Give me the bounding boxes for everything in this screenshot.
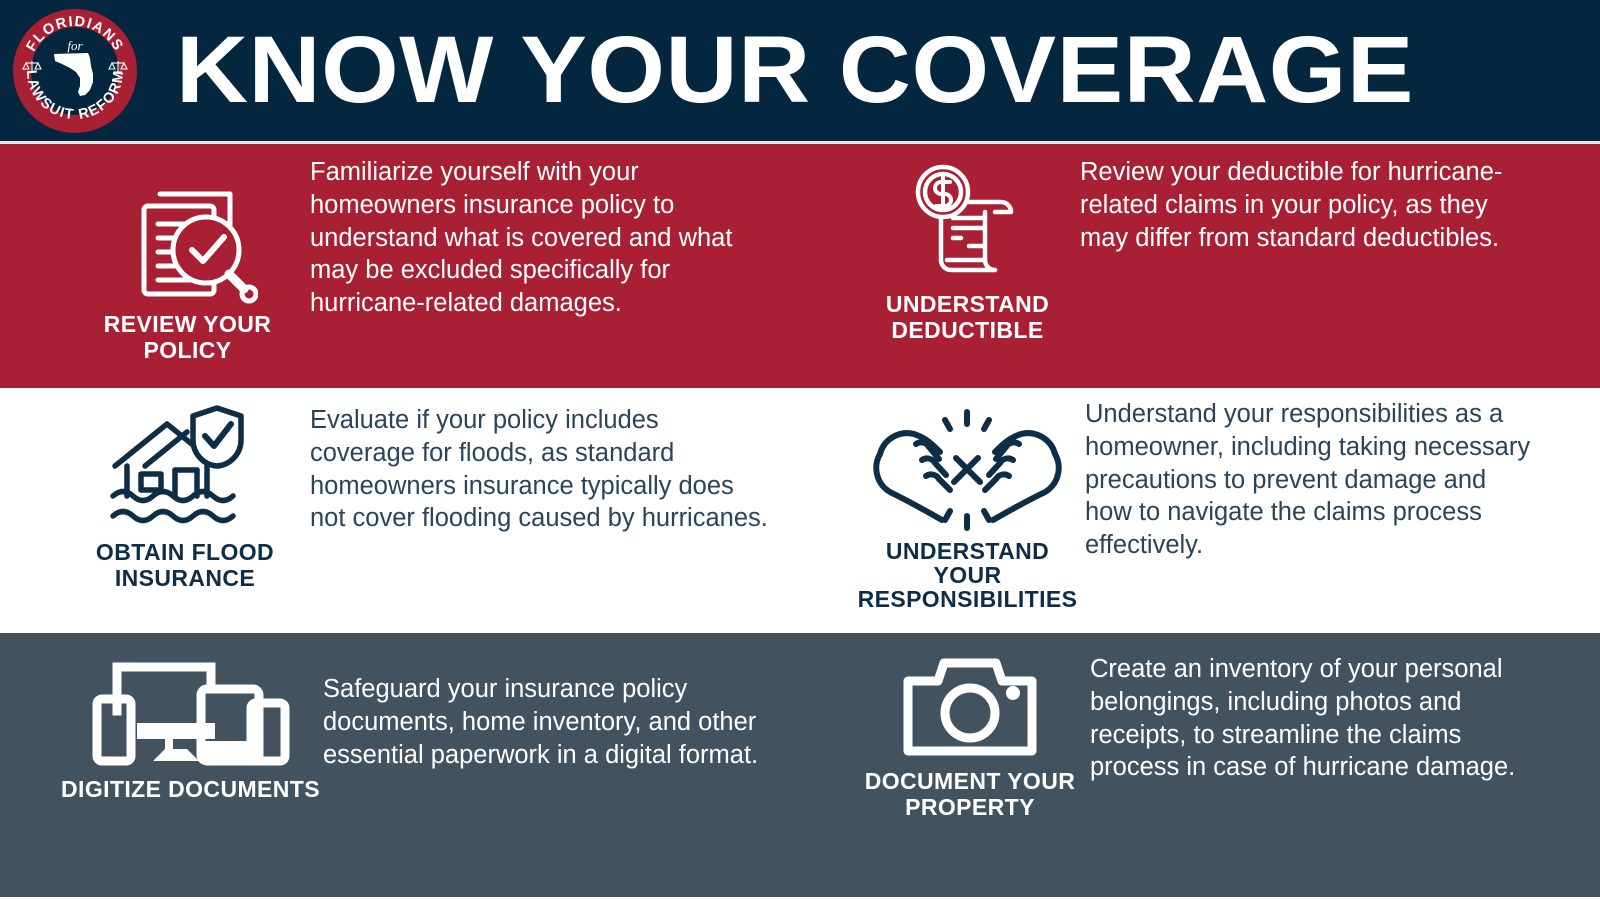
card-review-your-policy: REVIEW YOUR POLICY Familiarize yourself … bbox=[0, 144, 800, 388]
card-understand-deductible: UNDERSTAND DEDUCTIBLE Review your deduct… bbox=[800, 144, 1600, 388]
card-body-text: Evaluate if your policy includes coverag… bbox=[310, 388, 800, 535]
header-banner: FLORIDIANS for LAWSUIT REFORM bbox=[0, 0, 1600, 144]
card-obtain-flood-insurance: OBTAIN FLOOD INSURANCE Evaluate if your … bbox=[0, 388, 800, 633]
card-label: UNDERSTAND YOUR RESPONSIBILITIES bbox=[850, 539, 1085, 611]
section-red: REVIEW YOUR POLICY Familiarize yourself … bbox=[0, 144, 1600, 388]
card-digitize-documents: DIGITIZE DOCUMENTS Safeguard your insura… bbox=[0, 633, 800, 897]
icon-column: UNDERSTAND DEDUCTIBLE bbox=[855, 144, 1080, 344]
icon-column: OBTAIN FLOOD INSURANCE bbox=[60, 388, 310, 592]
page-title: KNOW YOUR COVERAGE bbox=[176, 23, 1414, 118]
card-label: DIGITIZE DOCUMENTS bbox=[61, 777, 320, 803]
card-document-your-property: DOCUMENT YOUR PROPERTY Create an invento… bbox=[800, 633, 1600, 897]
icon-column: DIGITIZE DOCUMENTS bbox=[58, 633, 323, 803]
card-label: UNDERSTAND DEDUCTIBLE bbox=[886, 292, 1049, 344]
card-understand-your-responsibilities: UNDERSTAND YOUR RESPONSIBILITIES Underst… bbox=[800, 388, 1600, 633]
dollar-coin-scroll-icon bbox=[903, 156, 1033, 286]
card-label: OBTAIN FLOOD INSURANCE bbox=[96, 540, 274, 592]
card-body-text: Safeguard your insurance policy document… bbox=[323, 633, 800, 771]
svg-text:for: for bbox=[67, 38, 83, 53]
card-body-text: Understand your responsibilities as a ho… bbox=[1085, 388, 1600, 562]
section-slate: DIGITIZE DOCUMENTS Safeguard your insura… bbox=[0, 633, 1600, 897]
floridians-for-lawsuit-reform-logo-icon: FLORIDIANS for LAWSUIT REFORM bbox=[10, 6, 140, 136]
house-flood-shield-check-icon bbox=[105, 404, 265, 534]
infographic-root: FLORIDIANS for LAWSUIT REFORM bbox=[0, 0, 1600, 900]
pinky-promise-hands-icon bbox=[860, 408, 1075, 533]
card-body-text: Create an inventory of your personal bel… bbox=[1090, 633, 1600, 784]
card-label: DOCUMENT YOUR PROPERTY bbox=[865, 769, 1076, 821]
card-label: REVIEW YOUR POLICY bbox=[65, 312, 310, 364]
logo-container: FLORIDIANS for LAWSUIT REFORM bbox=[0, 0, 150, 143]
icon-column: UNDERSTAND YOUR RESPONSIBILITIES bbox=[850, 388, 1085, 611]
section-white: OBTAIN FLOOD INSURANCE Evaluate if your … bbox=[0, 388, 1600, 633]
camera-icon bbox=[900, 651, 1040, 763]
devices-monitor-tablet-phone-icon bbox=[91, 653, 291, 771]
policy-document-magnifier-check-icon bbox=[118, 166, 258, 306]
icon-column: DOCUMENT YOUR PROPERTY bbox=[850, 633, 1090, 821]
card-body-text: Review your deductible for hurricane-rel… bbox=[1080, 144, 1600, 254]
icon-column: REVIEW YOUR POLICY bbox=[65, 144, 310, 364]
card-body-text: Familiarize yourself with your homeowner… bbox=[310, 144, 800, 320]
